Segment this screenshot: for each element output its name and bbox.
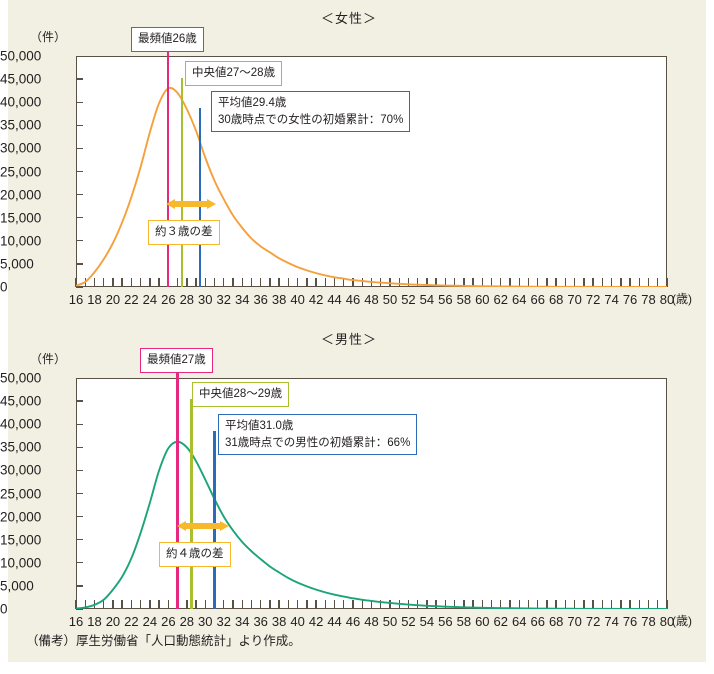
x-tick-label: 32	[217, 292, 231, 307]
chart-male-title: ＜男性＞	[0, 329, 698, 348]
chart-female-mode-label: 最頻値26歳	[131, 27, 204, 52]
x-tick-label: 64	[512, 292, 526, 307]
chart-male-median-line	[190, 399, 192, 609]
chart-female-mode-line	[167, 44, 169, 287]
chart-male-mean-line1: 平均値31.0歳	[225, 418, 410, 435]
x-tick-label: 22	[124, 292, 138, 307]
x-tick-label: 74	[604, 614, 618, 629]
chart-female-mean-label: 平均値29.4歳 30歳時点での女性の初婚累計：70%	[211, 91, 410, 132]
x-tick-label: 34	[235, 614, 249, 629]
x-tick-label: 50	[383, 614, 397, 629]
y-tick-label: 25,000	[0, 164, 68, 179]
x-tick-label: 40	[290, 614, 304, 629]
y-tick-label: 10,000	[0, 555, 68, 570]
x-tick-label: 54	[420, 614, 434, 629]
x-tick-label: 26	[161, 614, 175, 629]
chart-male: ＜男性＞ （件） 50,00045,00040,00035,00030,0002…	[0, 326, 698, 636]
x-tick-label: 62	[494, 614, 508, 629]
x-tick-label: 60	[475, 292, 489, 307]
x-tick-label: 48	[364, 614, 378, 629]
x-tick-label: 40	[290, 292, 304, 307]
x-tick-label: 32	[217, 614, 231, 629]
x-tick-label: 30	[198, 614, 212, 629]
chart-female-mean-line1: 平均値29.4歳	[218, 95, 403, 112]
x-tick-label: 76	[623, 614, 637, 629]
x-tick-label: 24	[143, 614, 157, 629]
y-tick-label: 50,000	[0, 371, 68, 386]
x-tick-label: 30	[198, 292, 212, 307]
x-tick-label: 66	[530, 614, 544, 629]
x-tick-label: 54	[420, 292, 434, 307]
x-tick-label: 44	[327, 292, 341, 307]
x-tick-label: 42	[309, 292, 323, 307]
x-tick-label: 38	[272, 614, 286, 629]
figure-root: ＜女性＞ （件） 50,00045,00040,00035,00030,0002…	[0, 0, 714, 674]
chart-female-x-unit: (歳)	[672, 290, 692, 307]
x-tick-label: 46	[346, 292, 360, 307]
x-tick-label: 38	[272, 292, 286, 307]
x-tick-label: 70	[567, 614, 581, 629]
x-tick-label: 42	[309, 614, 323, 629]
chart-male-curve-svg	[76, 378, 667, 609]
x-tick-label: 20	[106, 292, 120, 307]
x-tick-label: 76	[623, 292, 637, 307]
x-tick-label: 74	[604, 292, 618, 307]
x-tick-label: 72	[586, 614, 600, 629]
chart-female-median-label: 中央値27〜28歳	[185, 61, 282, 86]
x-tick-label: 52	[401, 614, 415, 629]
x-tick-label: 18	[87, 292, 101, 307]
chart-male-gap-label: 約４歳の差	[159, 542, 231, 567]
y-tick-label: 20,000	[0, 509, 68, 524]
chart-female-gap-label: 約３歳の差	[148, 220, 220, 245]
chart-female-title: ＜女性＞	[0, 8, 698, 27]
y-tick-label: 35,000	[0, 440, 68, 455]
y-tick-label: 0	[0, 602, 68, 617]
y-tick-label: 40,000	[0, 417, 68, 432]
y-tick-label: 25,000	[0, 486, 68, 501]
chart-male-mean-line2: 31歳時点での男性の初婚累計：66%	[225, 435, 410, 452]
chart-male-mode-label: 最頻値27歳	[140, 348, 213, 373]
chart-female-median-line	[181, 78, 183, 287]
x-tick-label: 58	[457, 292, 471, 307]
x-tick-label: 56	[438, 292, 452, 307]
x-tick-label: 78	[641, 292, 655, 307]
x-tick-label: 64	[512, 614, 526, 629]
x-tick-label: 28	[180, 292, 194, 307]
x-tick-label: 18	[87, 614, 101, 629]
y-tick-label: 30,000	[0, 463, 68, 478]
x-tick-label: 24	[143, 292, 157, 307]
x-tick-label: 58	[457, 614, 471, 629]
y-tick-label: 20,000	[0, 187, 68, 202]
x-tick-label: 34	[235, 292, 249, 307]
x-tick-label: 44	[327, 614, 341, 629]
x-tick-label: 26	[161, 292, 175, 307]
distribution-curve	[76, 442, 667, 609]
y-tick-label: 50,000	[0, 49, 68, 64]
y-tick-label: 0	[0, 280, 68, 295]
y-tick-label: 5,000	[0, 578, 68, 593]
chart-male-y-unit: （件）	[30, 350, 66, 367]
y-tick-label: 15,000	[0, 210, 68, 225]
chart-male-mode-line	[176, 366, 178, 609]
x-tick-label: 48	[364, 292, 378, 307]
y-tick-label: 15,000	[0, 532, 68, 547]
x-tick-label: 50	[383, 292, 397, 307]
x-tick-label: 62	[494, 292, 508, 307]
x-tick-label: 66	[530, 292, 544, 307]
x-tick-label: 72	[586, 292, 600, 307]
x-tick-label: 56	[438, 614, 452, 629]
x-tick-label: 68	[549, 292, 563, 307]
y-tick-label: 35,000	[0, 118, 68, 133]
chart-male-median-label: 中央値28〜29歳	[192, 382, 289, 407]
x-tick-label: 16	[69, 614, 83, 629]
x-tick-label: 22	[124, 614, 138, 629]
chart-male-x-unit: (歳)	[672, 612, 692, 629]
x-tick-label: 16	[69, 292, 83, 307]
x-tick-label: 60	[475, 614, 489, 629]
x-tick-label: 52	[401, 292, 415, 307]
chart-male-gap-arrow	[177, 519, 229, 533]
chart-female-y-unit: （件）	[30, 28, 66, 45]
y-tick-label: 30,000	[0, 141, 68, 156]
y-tick-label: 10,000	[0, 233, 68, 248]
chart-male-mean-label: 平均値31.0歳 31歳時点での男性の初婚累計：66%	[218, 414, 417, 455]
y-tick-label: 45,000	[0, 72, 68, 87]
y-tick-label: 5,000	[0, 256, 68, 271]
x-tick-label: 68	[549, 614, 563, 629]
y-tick-label: 45,000	[0, 394, 68, 409]
x-tick-label: 78	[641, 614, 655, 629]
x-tick-label: 28	[180, 614, 194, 629]
chart-female-mean-line2: 30歳時点での女性の初婚累計：70%	[218, 112, 403, 129]
chart-female-gap-arrow	[166, 197, 216, 211]
x-tick-label: 46	[346, 614, 360, 629]
x-tick-label: 36	[253, 292, 267, 307]
x-tick-label: 20	[106, 614, 120, 629]
x-tick-label: 70	[567, 292, 581, 307]
y-tick-label: 40,000	[0, 95, 68, 110]
chart-female: ＜女性＞ （件） 50,00045,00040,00035,00030,0002…	[0, 0, 698, 330]
figure-footnote: （備考）厚生労働省「人口動態統計」より作成。	[26, 630, 301, 649]
x-tick-label: 36	[253, 614, 267, 629]
